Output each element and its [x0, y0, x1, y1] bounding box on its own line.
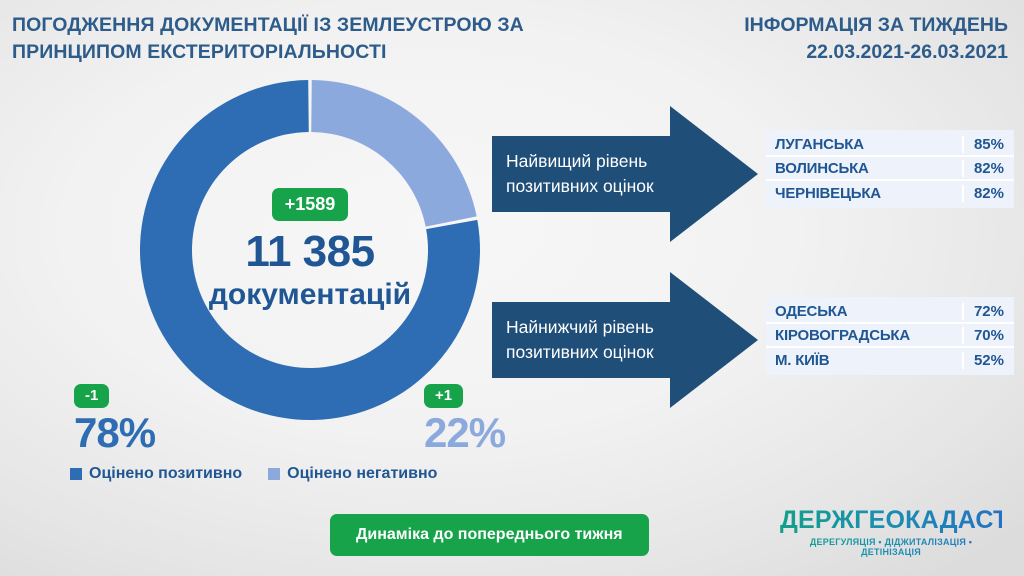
page-title: ПОГОДЖЕННЯ ДОКУМЕНТАЦІЇ ІЗ ЗЕМЛЕУСТРОЮ З…: [12, 12, 612, 66]
logo-tagline: ДЕРЕГУЛЯЦІЯ • ДІДЖИТАЛІЗАЦІЯ • ДЕТІНІЗАЦ…: [780, 537, 1002, 557]
logo: ДЕРЖГЕОКАДАСТР ДЕРЕГУЛЯЦІЯ • ДІДЖИТАЛІЗА…: [780, 508, 1002, 557]
chart-legend: Оцінено позитивно Оцінено негативно: [70, 465, 437, 483]
region-row: ЧЕРНІВЕЦЬКА82%: [766, 181, 1014, 205]
legend-item-positive: Оцінено позитивно: [70, 465, 242, 483]
region-row: КІРОВОГРАДСЬКА70%: [766, 324, 1014, 348]
arrow-highest: Найвищий рівень позитивних оцінок: [492, 106, 758, 242]
negative-delta-badge: +1: [424, 384, 463, 408]
period-label: ІНФОРМАЦІЯ ЗА ТИЖДЕНЬ: [668, 12, 1008, 39]
page-title-line-2: ПРИНЦИПОМ ЕКСТЕРИТОРІАЛЬНОСТІ: [12, 39, 612, 66]
region-name: КІРОВОГРАДСЬКА: [775, 327, 910, 344]
region-value: 82%: [962, 160, 1004, 177]
legend-swatch-negative-icon: [268, 468, 280, 480]
region-value: 82%: [962, 185, 1004, 202]
stat-positive: -1 78%: [74, 384, 155, 454]
arrow-shape-icon: [492, 106, 758, 242]
infographic-slide: ПОГОДЖЕННЯ ДОКУМЕНТАЦІЇ ІЗ ЗЕМЛЕУСТРОЮ З…: [0, 0, 1024, 576]
region-row: М. КИЇВ52%: [766, 348, 1014, 372]
page-title-line-1: ПОГОДЖЕННЯ ДОКУМЕНТАЦІЇ ІЗ ЗЕМЛЕУСТРОЮ З…: [12, 12, 612, 39]
region-name: ЛУГАНСЬКА: [775, 136, 864, 153]
legend-label-negative: Оцінено негативно: [287, 465, 437, 483]
positive-percent: 78%: [74, 412, 155, 454]
region-value: 52%: [962, 352, 1004, 369]
period-value: 22.03.2021-26.03.2021: [668, 39, 1008, 66]
dynamics-button[interactable]: Динаміка до попереднього тижня: [330, 514, 649, 556]
legend-swatch-positive-icon: [70, 468, 82, 480]
lowest-regions-list: ОДЕСЬКА72%КІРОВОГРАДСЬКА70%М. КИЇВ52%: [766, 297, 1014, 375]
logo-title: ДЕРЖГЕОКАДАСТР: [780, 508, 1002, 533]
arrow-shape-icon: [492, 272, 758, 408]
region-name: ЧЕРНІВЕЦЬКА: [775, 185, 881, 202]
positive-delta-badge: -1: [74, 384, 109, 408]
region-name: М. КИЇВ: [775, 352, 829, 369]
region-value: 85%: [962, 136, 1004, 153]
legend-label-positive: Оцінено позитивно: [89, 465, 242, 483]
arrow-lowest: Найнижчий рівень позитивних оцінок: [492, 272, 758, 408]
donut-chart: +1589 11 385 документацій: [136, 76, 484, 424]
region-value: 70%: [962, 327, 1004, 344]
region-name: ОДЕСЬКА: [775, 303, 847, 320]
donut-slice-negative: [311, 80, 476, 227]
region-value: 72%: [962, 303, 1004, 320]
region-row: ЛУГАНСЬКА85%: [766, 133, 1014, 157]
period-header: ІНФОРМАЦІЯ ЗА ТИЖДЕНЬ 22.03.2021-26.03.2…: [668, 12, 1008, 66]
negative-percent: 22%: [424, 412, 505, 454]
legend-item-negative: Оцінено негативно: [268, 465, 437, 483]
region-name: ВОЛИНСЬКА: [775, 160, 869, 177]
region-row: ВОЛИНСЬКА82%: [766, 157, 1014, 181]
highest-regions-list: ЛУГАНСЬКА85%ВОЛИНСЬКА82%ЧЕРНІВЕЦЬКА82%: [766, 130, 1014, 208]
region-row: ОДЕСЬКА72%: [766, 300, 1014, 324]
